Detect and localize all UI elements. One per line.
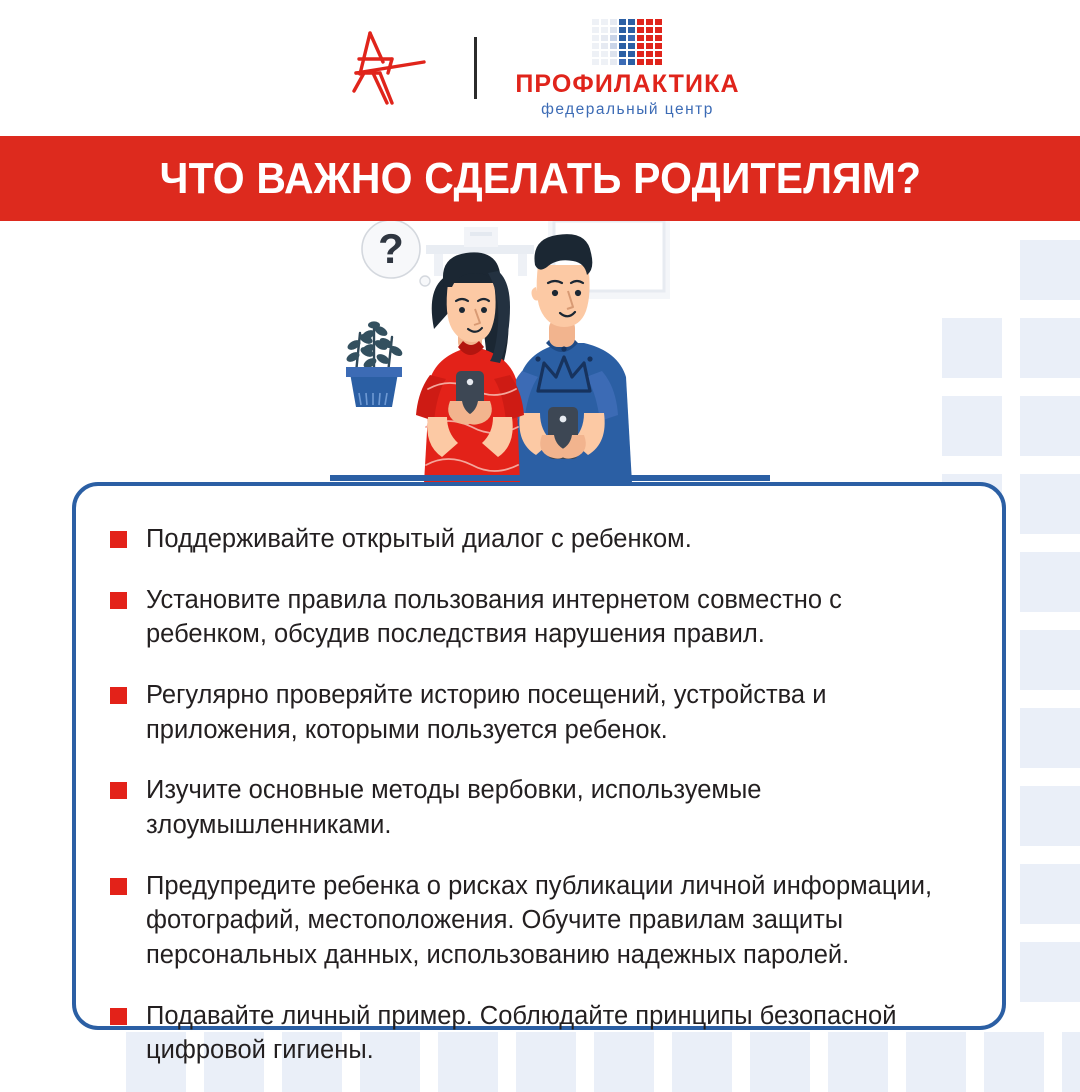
background-square	[1020, 864, 1080, 924]
background-square	[942, 396, 1002, 456]
list-item: Подавайте личный пример. Соблюдайте прин…	[110, 999, 962, 1068]
background-square	[1020, 942, 1080, 1002]
bullet-square-icon	[110, 878, 127, 895]
list-item: Изучите основные методы вербовки, исполь…	[110, 773, 962, 842]
list-item-text: Изучите основные методы вербовки, исполь…	[146, 773, 962, 842]
list-item: Предупредите ребенка о рисках публикации…	[110, 869, 962, 973]
site-header: ПРОФИЛАКТИКА федеральный центр	[0, 0, 1080, 136]
background-square	[1020, 630, 1080, 690]
advice-list: Поддерживайте открытый диалог с ребенком…	[110, 522, 962, 1068]
list-item-text: Предупредите ребенка о рисках публикации…	[146, 869, 962, 973]
bullet-square-icon	[110, 592, 127, 609]
background-square	[1020, 552, 1080, 612]
list-item: Установите правила пользования интернето…	[110, 583, 962, 652]
logo-divider	[474, 37, 477, 99]
advice-card: Поддерживайте открытый диалог с ребенком…	[72, 482, 1006, 1030]
background-square	[1020, 474, 1080, 534]
brand-name: ПРОФИЛАКТИКА	[515, 72, 739, 97]
bullet-square-icon	[110, 782, 127, 799]
brand-block: ПРОФИЛАКТИКА федеральный центр	[515, 19, 739, 118]
brand-subtitle: федеральный центр	[541, 102, 714, 118]
list-item: Поддерживайте открытый диалог с ребенком…	[110, 522, 962, 557]
list-item-text: Установите правила пользования интернето…	[146, 583, 962, 652]
list-item-text: Регулярно проверяйте историю посещений, …	[146, 678, 962, 747]
chair-outline-icon	[340, 29, 436, 107]
bullet-square-icon	[110, 687, 127, 704]
background-square	[1062, 1032, 1080, 1092]
background-square	[942, 318, 1002, 378]
thought-bubble-question-mark: ?	[378, 225, 404, 272]
title-banner: ЧТО ВАЖНО СДЕЛАТЬ РОДИТЕЛЯМ?	[0, 136, 1080, 221]
bullet-square-icon	[110, 1008, 127, 1025]
list-item: Регулярно проверяйте историю посещений, …	[110, 678, 962, 747]
page-title: ЧТО ВАЖНО СДЕЛАТЬ РОДИТЕЛЯМ?	[159, 154, 920, 204]
background-square	[1020, 786, 1080, 846]
parents-with-smartphones-illustration: ?	[330, 221, 770, 483]
background-square	[1020, 396, 1080, 456]
list-item-text: Поддерживайте открытый диалог с ребенком…	[146, 522, 692, 557]
background-square	[984, 1032, 1044, 1092]
bullet-square-icon	[110, 531, 127, 548]
background-square	[1020, 240, 1080, 300]
background-square	[1020, 318, 1080, 378]
list-item-text: Подавайте личный пример. Соблюдайте прин…	[146, 999, 962, 1068]
background-square	[1020, 708, 1080, 768]
brand-grid-icon	[592, 19, 662, 65]
